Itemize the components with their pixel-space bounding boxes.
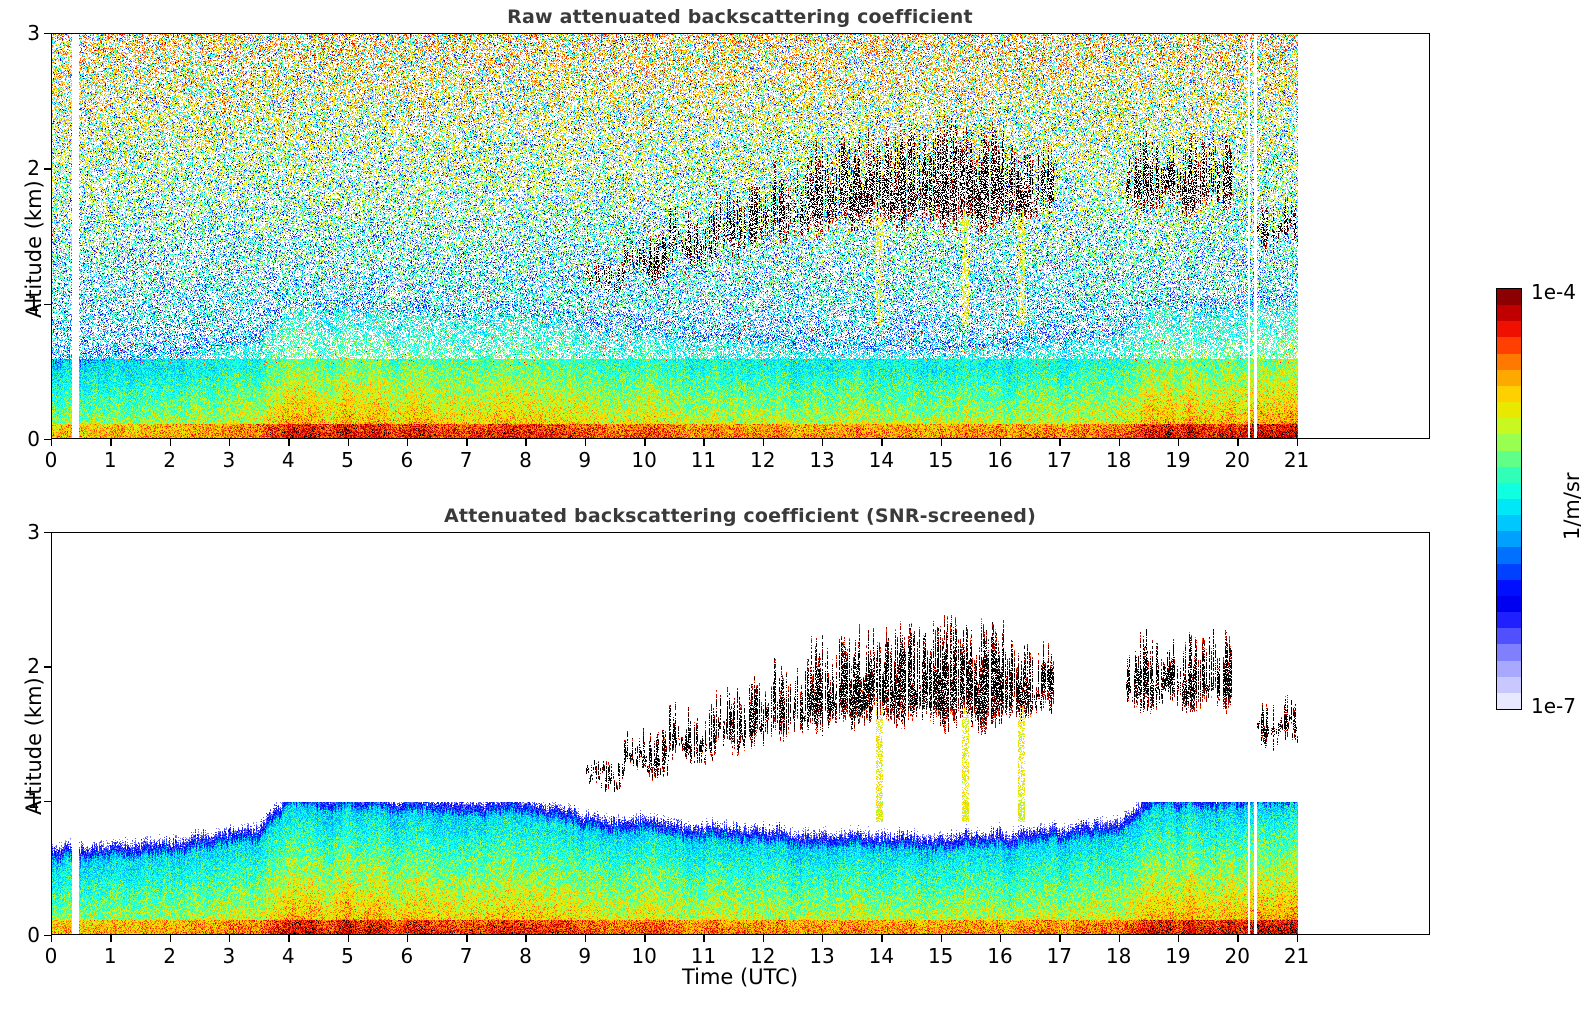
y-axis-label-screened: Altitude (km) (22, 677, 46, 815)
x-axis-tick (288, 439, 289, 446)
colorbar-segment (1497, 305, 1521, 322)
x-axis-tick (644, 439, 645, 446)
x-axis-tick-label: 18 (1106, 448, 1131, 472)
x-axis-tick (466, 935, 467, 942)
x-axis-tick (229, 935, 230, 942)
x-axis-tick (1297, 935, 1298, 942)
y-axis-tick-label: 3 (7, 520, 40, 544)
x-axis-tick (1237, 935, 1238, 942)
y-axis-label-raw: Altitude (km) (22, 180, 46, 318)
x-axis-tick-label: 2 (163, 448, 176, 472)
x-axis-tick-label: 14 (869, 448, 894, 472)
x-axis-tick-label: 9 (578, 448, 591, 472)
x-axis-tick (703, 439, 704, 446)
colorbar-segment (1497, 596, 1521, 613)
x-axis-tick-label: 21 (1284, 448, 1309, 472)
heatmap-canvas-raw (52, 34, 1430, 439)
x-axis-tick (585, 935, 586, 942)
lidar-figure: Raw attenuated backscattering coefficien… (0, 0, 1595, 1020)
x-axis-tick (110, 439, 111, 446)
colorbar-min-label: 1e-7 (1531, 694, 1576, 718)
colorbar-segment (1497, 434, 1521, 451)
x-axis-tick (51, 935, 52, 942)
x-axis-tick (763, 935, 764, 942)
x-axis-tick (1178, 439, 1179, 446)
x-axis-tick (466, 439, 467, 446)
x-axis-tick (1059, 439, 1060, 446)
x-axis-tick-label: 15 (928, 448, 953, 472)
colorbar-segment (1497, 515, 1521, 532)
colorbar-segment (1497, 644, 1521, 661)
x-axis-tick (1000, 935, 1001, 942)
colorbar-segment (1497, 580, 1521, 597)
y-axis-tick (44, 666, 51, 667)
x-axis-tick-label: 16 (987, 448, 1012, 472)
colorbar-segment (1497, 677, 1521, 694)
x-axis-tick (229, 439, 230, 446)
x-axis-tick (1000, 439, 1001, 446)
colorbar-segment (1497, 418, 1521, 435)
x-axis-tick-label: 12 (750, 448, 775, 472)
x-axis-tick (941, 935, 942, 942)
colorbar-segment (1497, 547, 1521, 564)
y-axis-tick-label: 0 (7, 923, 40, 947)
x-axis-tick (822, 439, 823, 446)
y-axis-tick (44, 168, 51, 169)
x-axis-tick-label: 1 (104, 448, 117, 472)
colorbar[interactable] (1496, 288, 1522, 710)
y-axis-tick (44, 532, 51, 533)
x-axis-tick (703, 935, 704, 942)
x-axis-tick-label: 10 (631, 448, 656, 472)
x-axis-tick (348, 439, 349, 446)
x-axis-tick (1178, 935, 1179, 942)
colorbar-segment (1497, 499, 1521, 516)
x-axis-tick (407, 439, 408, 446)
x-axis-tick-label: 17 (1047, 448, 1072, 472)
x-axis-tick (348, 935, 349, 942)
x-axis-tick-label: 11 (691, 448, 716, 472)
x-axis-tick (170, 439, 171, 446)
y-axis-tick-label: 2 (7, 654, 40, 678)
y-axis-tick-label: 3 (7, 21, 40, 45)
x-axis-tick (1297, 439, 1298, 446)
x-axis-tick-label: 0 (45, 448, 58, 472)
x-axis-tick (525, 935, 526, 942)
x-axis-tick-label: 8 (519, 448, 532, 472)
y-axis-tick (44, 439, 51, 440)
x-axis-tick (110, 935, 111, 942)
colorbar-segment (1497, 564, 1521, 581)
heatmap-canvas-screened (52, 533, 1430, 935)
x-axis-tick (881, 935, 882, 942)
colorbar-segment (1497, 612, 1521, 629)
x-axis-tick-label: 6 (400, 448, 413, 472)
y-axis-tick-label: 2 (7, 156, 40, 180)
x-axis-tick (644, 935, 645, 942)
colorbar-segment (1497, 337, 1521, 354)
colorbar-segment (1497, 289, 1521, 306)
x-axis-tick (51, 439, 52, 446)
x-axis-tick-label: 5 (341, 448, 354, 472)
y-axis-tick (44, 33, 51, 34)
colorbar-segment (1497, 370, 1521, 387)
panel-title-screened: Attenuated backscattering coefficient (S… (0, 505, 1480, 527)
plot-area-screened[interactable] (51, 532, 1430, 935)
x-axis-tick (881, 439, 882, 446)
x-axis-tick-label: 20 (1225, 448, 1250, 472)
x-axis-tick (763, 439, 764, 446)
x-axis-tick (525, 439, 526, 446)
x-axis-tick (1119, 439, 1120, 446)
x-axis-tick (1237, 439, 1238, 446)
colorbar-segment (1497, 628, 1521, 645)
x-axis-tick (822, 935, 823, 942)
x-axis-tick (941, 439, 942, 446)
x-axis-tick (1059, 935, 1060, 942)
y-axis-tick (44, 935, 51, 936)
colorbar-segment (1497, 451, 1521, 468)
x-axis-tick-label: 3 (223, 448, 236, 472)
colorbar-segment (1497, 531, 1521, 548)
x-axis-tick (288, 935, 289, 942)
x-axis-label-screened: Time (UTC) (0, 965, 1480, 989)
colorbar-segment (1497, 386, 1521, 403)
colorbar-segment (1497, 321, 1521, 338)
plot-area-raw[interactable] (51, 33, 1430, 439)
x-axis-tick (585, 439, 586, 446)
panel-title-raw: Raw attenuated backscattering coefficien… (0, 6, 1480, 28)
colorbar-segment (1497, 661, 1521, 678)
x-axis-tick-label: 13 (809, 448, 834, 472)
x-axis-tick (170, 935, 171, 942)
y-axis-tick-label: 0 (7, 427, 40, 451)
colorbar-segment (1497, 354, 1521, 371)
x-axis-tick (407, 935, 408, 942)
x-axis-tick (1119, 935, 1120, 942)
x-axis-tick-label: 19 (1165, 448, 1190, 472)
colorbar-max-label: 1e-4 (1531, 280, 1576, 304)
colorbar-segment (1497, 467, 1521, 484)
colorbar-segment (1497, 402, 1521, 419)
x-axis-tick-label: 7 (460, 448, 473, 472)
colorbar-segment (1497, 693, 1521, 710)
colorbar-title: 1/m/sr (1560, 472, 1584, 540)
x-axis-tick-label: 4 (282, 448, 295, 472)
colorbar-segment (1497, 483, 1521, 500)
